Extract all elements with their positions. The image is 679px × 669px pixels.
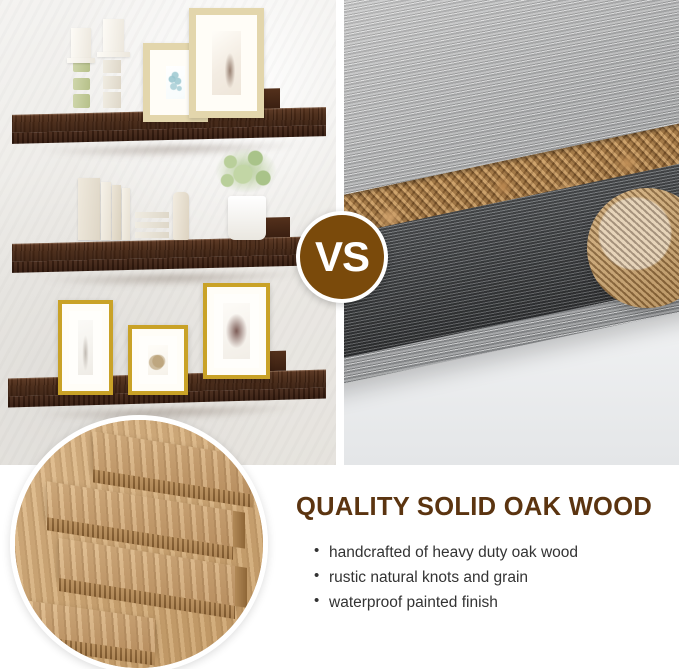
vs-label: VS xyxy=(315,236,369,278)
headline: QUALITY SOLID OAK WOOD xyxy=(296,495,672,521)
feature-bullet-list: handcrafted of heavy duty oak wood rusti… xyxy=(314,540,672,615)
marketing-copy: QUALITY SOLID OAK WOOD handcrafted of he… xyxy=(296,495,672,615)
wood-sculpture xyxy=(173,192,189,240)
candle-holder-sage-b xyxy=(73,78,90,90)
candle-stack-block-c xyxy=(103,92,121,108)
bullet-item: handcrafted of heavy duty oak wood xyxy=(314,540,672,565)
book-b xyxy=(101,182,111,240)
candle-plate-left xyxy=(67,58,95,63)
candle-stack-block-b xyxy=(103,76,121,89)
plant-foliage xyxy=(207,142,285,204)
bullet-item: rustic natural knots and grain xyxy=(314,565,672,590)
sketch-artwork xyxy=(148,345,168,375)
particleboard-shelf-photo xyxy=(344,0,679,465)
botanical-artwork xyxy=(166,66,185,99)
tray-slat-c xyxy=(135,232,169,238)
picture-frame-figure xyxy=(189,8,264,118)
bullet-item: waterproof painted finish xyxy=(314,590,672,615)
book-c xyxy=(112,185,121,240)
plank-end-grain xyxy=(235,566,247,608)
family-photo xyxy=(223,303,250,359)
product-comparison-infographic: VS QUALITY SOLID OAK WOOD handcrafted of… xyxy=(0,0,679,669)
tray-slat-b xyxy=(135,222,169,228)
pillar-candle-left xyxy=(71,28,91,62)
tray-slat-a xyxy=(135,212,169,218)
figure-artwork xyxy=(212,31,241,95)
pillar-candle-right xyxy=(103,19,124,55)
gold-frame-family xyxy=(203,283,270,379)
candle-holder-sage-a xyxy=(73,62,90,72)
oak-wood-closeup-inset xyxy=(10,415,268,669)
gold-frame-portrait xyxy=(58,300,113,395)
plant-pot xyxy=(228,196,266,240)
shelf-end-return xyxy=(264,217,290,238)
candle-plate-right xyxy=(97,52,130,57)
solid-oak-shelf-photo xyxy=(0,0,336,465)
book-d xyxy=(122,188,130,240)
candle-holder-sage-c xyxy=(73,94,90,108)
gold-frame-sketch xyxy=(128,325,188,395)
candle-stack-block-a xyxy=(103,60,121,73)
vs-badge: VS xyxy=(296,211,388,303)
portrait-photo xyxy=(78,320,93,375)
book-a xyxy=(78,178,100,240)
plank-end-grain xyxy=(233,511,245,549)
